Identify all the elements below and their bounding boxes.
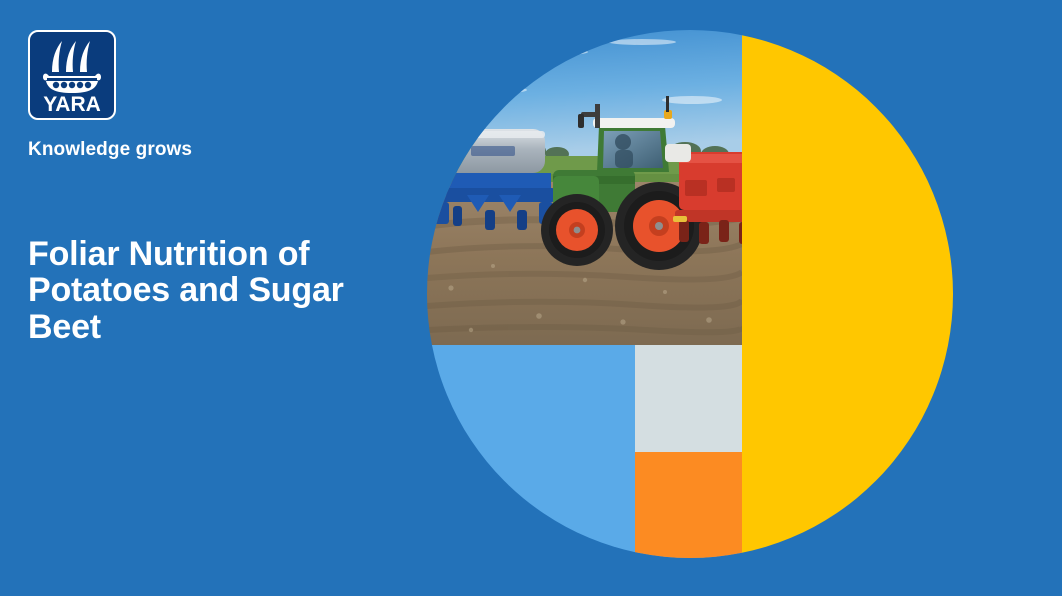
logo-wordmark: YARA [43, 93, 101, 114]
orange-block [635, 452, 742, 558]
grey-block [635, 345, 742, 452]
yara-logo: YARA [28, 30, 116, 120]
field-tractor-photo [427, 30, 742, 345]
viking-ship-icon: YARA [35, 36, 109, 114]
page-title: Foliar Nutrition of Potatoes and Sugar B… [28, 236, 398, 345]
brand-tagline: Knowledge grows [28, 139, 192, 161]
tractor-front-wheel [541, 194, 613, 266]
yellow-half-block [742, 30, 953, 558]
presentation-slide: YARA Knowledge grows Foliar Nutrition of… [0, 0, 1062, 596]
circular-graphic [427, 30, 953, 558]
